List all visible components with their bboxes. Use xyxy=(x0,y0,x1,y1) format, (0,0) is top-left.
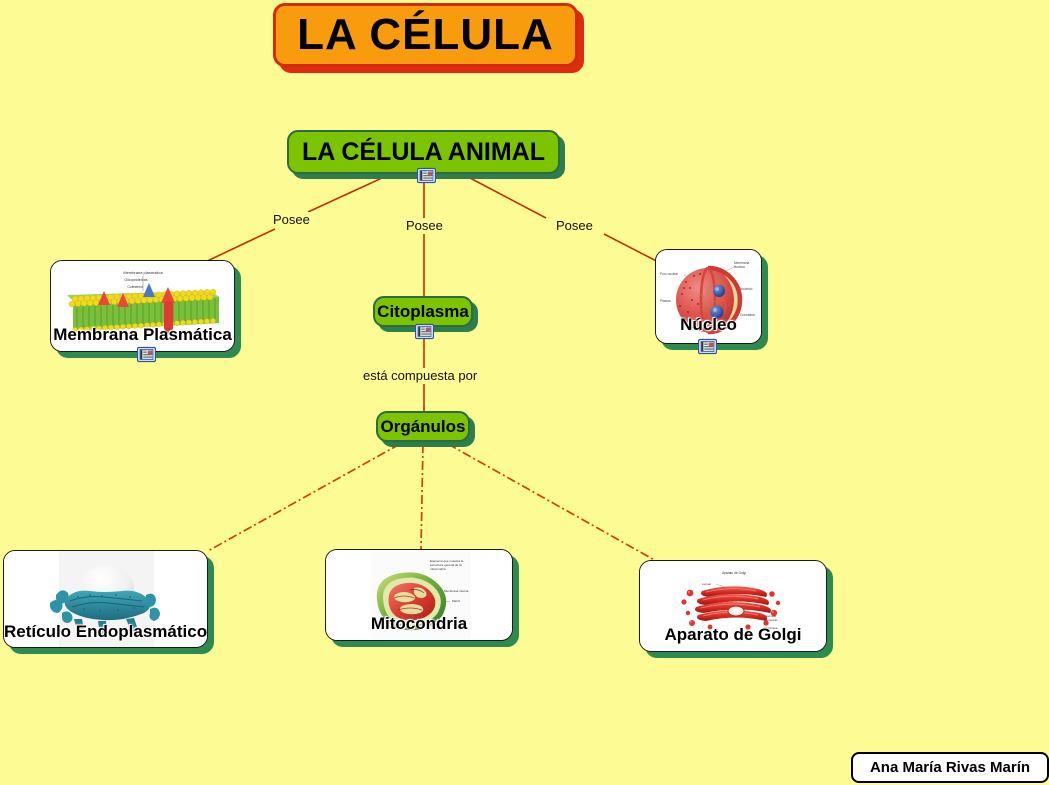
link-label-posee-center: Posee xyxy=(403,218,446,233)
svg-text:Matriz: Matriz xyxy=(452,599,461,603)
link-label-posee-right: Posee xyxy=(553,218,596,233)
svg-text:Poro nuclear: Poro nuclear xyxy=(660,272,679,276)
link-celula-nucleo xyxy=(470,178,546,218)
author-box[interactable]: Ana María Rivas Marín xyxy=(851,752,1049,783)
node-nucleo[interactable]: Membrana Nuclear Poro nuclear Plasma Nuc… xyxy=(655,249,762,344)
node-la-celula-animal-label: LA CÉLULA ANIMAL xyxy=(302,138,545,167)
node-golgi-label: Aparato de Golgi xyxy=(640,625,826,645)
node-reticulo-endoplasmatico[interactable]: Retículo Endoplasmático xyxy=(3,550,208,648)
node-nucleo-label: Núcleo xyxy=(656,315,761,335)
connector-layer xyxy=(0,0,1049,785)
note-icon-nucleo[interactable] xyxy=(698,337,717,356)
mitocondria-illustration: Esquema que muestra la estructura genera… xyxy=(326,550,512,640)
svg-text:Lumen: Lumen xyxy=(702,582,712,586)
node-la-celula[interactable]: LA CÉLULA xyxy=(273,3,578,67)
node-mitocondria-label: Mitocondria xyxy=(326,614,512,634)
node-organulos[interactable]: Orgánulos xyxy=(376,411,470,442)
link-organulos-mitocondria xyxy=(421,444,423,549)
note-icon-citoplasma[interactable] xyxy=(415,322,434,341)
node-organulos-label: Orgánulos xyxy=(380,417,465,437)
svg-text:Glicoproteínas: Glicoproteínas xyxy=(124,278,147,282)
nucleo-illustration: Membrana Nuclear Poro nuclear Plasma Nuc… xyxy=(656,250,761,343)
node-aparato-de-golgi[interactable]: Aparato de Golgi Lumen Vesículas Secreto… xyxy=(639,560,827,652)
link-organulos-golgi xyxy=(448,444,658,562)
svg-text:Plasma: Plasma xyxy=(660,299,671,303)
node-la-celula-label: LA CÉLULA xyxy=(297,13,554,57)
note-icon-celula-animal[interactable] xyxy=(417,166,436,185)
author-name: Ana María Rivas Marín xyxy=(870,759,1030,776)
svg-text:Colesterol: Colesterol xyxy=(127,285,143,289)
link-organulos-reticulo xyxy=(208,444,400,551)
node-reticulo-label: Retículo Endoplasmático xyxy=(4,622,207,642)
concept-map-canvas: LA CÉLULA LA CÉLULA ANIMAL Posee Posee P… xyxy=(0,0,1049,785)
golgi-illustration: Aparato de Golgi Lumen Vesículas Secreto… xyxy=(640,561,826,651)
node-mitocondria[interactable]: Esquema que muestra la estructura genera… xyxy=(325,549,513,641)
node-citoplasma-label: Citoplasma xyxy=(377,302,469,322)
link-label-posee-left: Posee xyxy=(270,212,313,227)
svg-text:Membrana plasmática: Membrana plasmática xyxy=(123,270,163,275)
link-celula-membrana xyxy=(308,178,382,212)
link-label-esta-compuesta-por: está compuesta por xyxy=(360,368,480,383)
note-icon-membrana[interactable] xyxy=(137,345,156,364)
node-membrana-label: Membrana Plasmática xyxy=(51,325,234,345)
svg-text:mitocondria: mitocondria xyxy=(430,567,446,571)
svg-text:Nuclear: Nuclear xyxy=(734,265,746,269)
svg-text:Membrana interna: Membrana interna xyxy=(444,589,469,593)
membrana-illustration: Membrana plasmática Glicoproteínas Coles… xyxy=(51,261,234,351)
reticulo-illustration: Retículo Endoplasmático xyxy=(4,551,207,647)
node-membrana-plasmatica[interactable]: Membrana plasmática Glicoproteínas Coles… xyxy=(50,260,235,352)
svg-text:Nucléolo: Nucléolo xyxy=(740,287,753,291)
svg-text:Aparato de Golgi: Aparato de Golgi xyxy=(722,571,746,575)
